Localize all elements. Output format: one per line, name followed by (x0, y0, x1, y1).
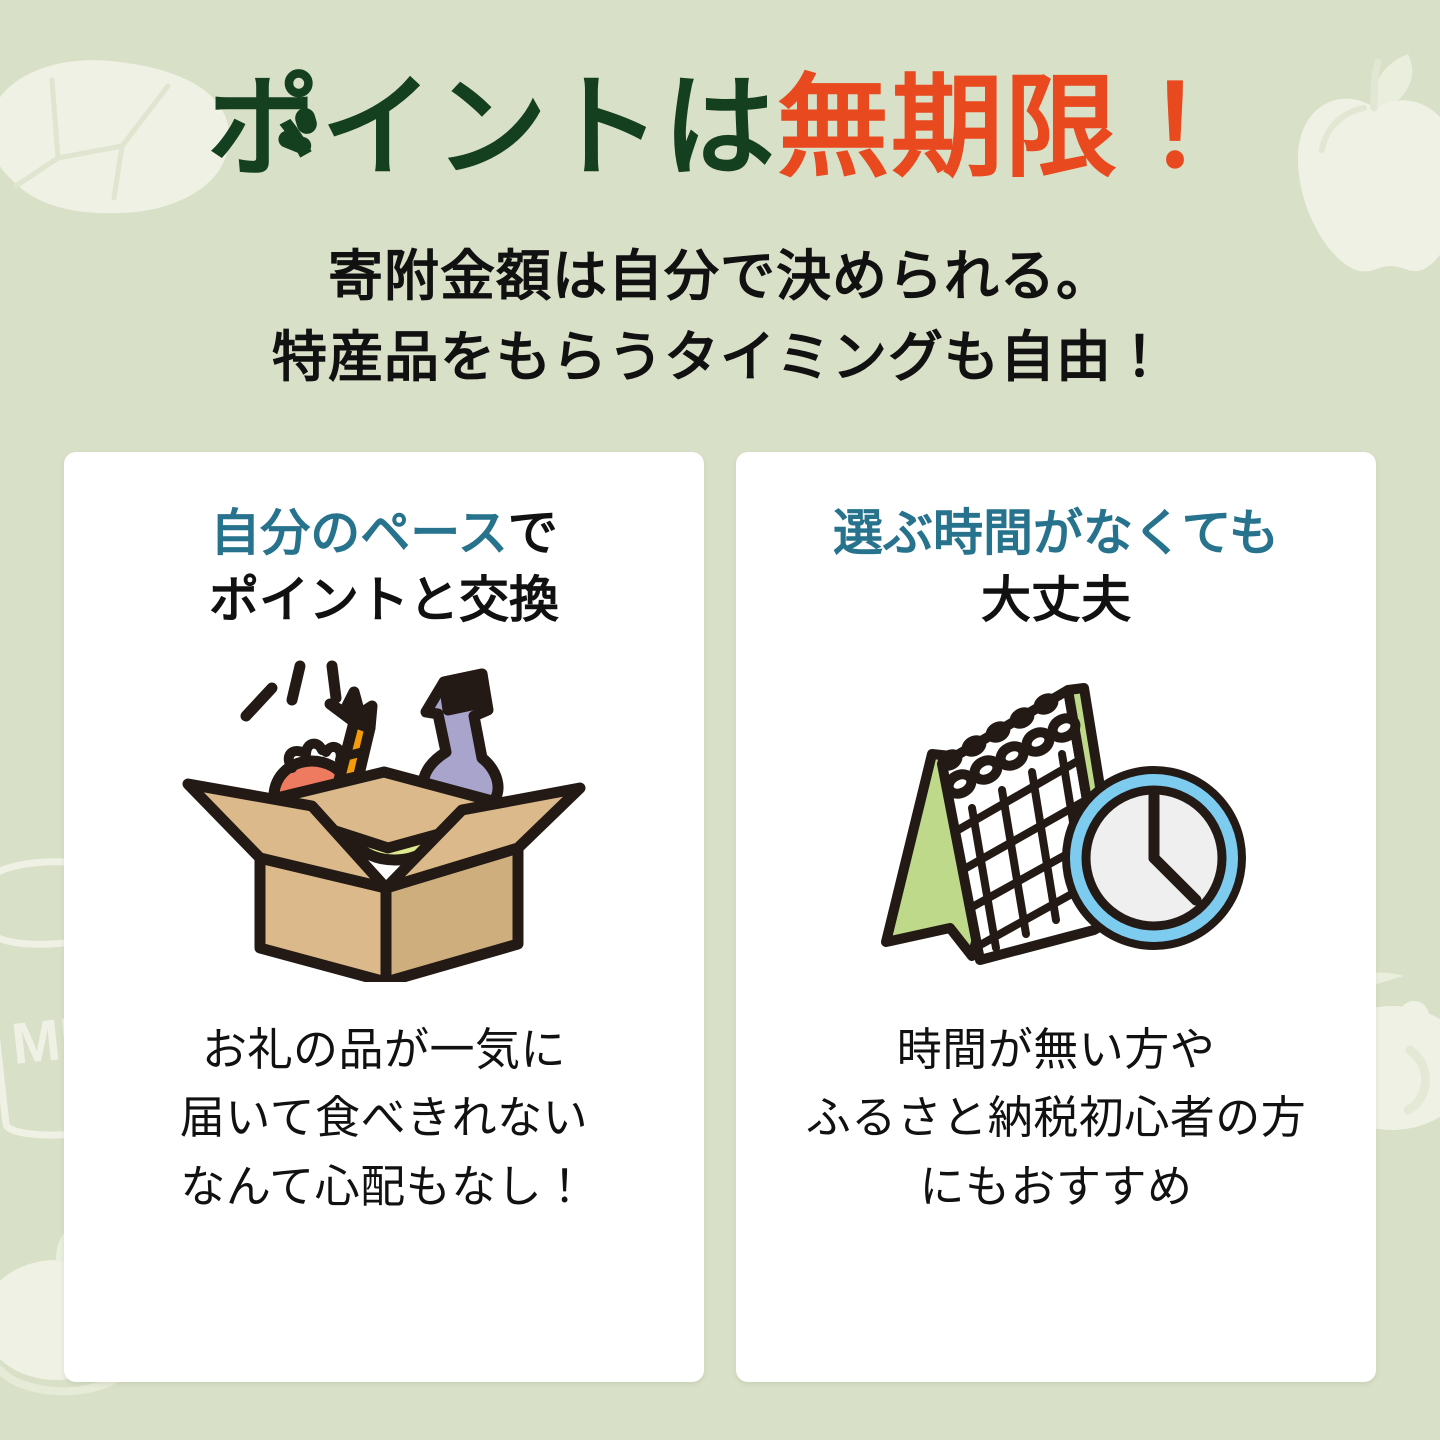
page-headline: ポイントは無期限！ (0, 62, 1440, 194)
feature-card-self-pace: 自分のペースで ポイントと交換 (64, 452, 704, 1382)
card-body-line-2: ふるさと納税初心者の方 (806, 1084, 1307, 1152)
gift-box-illustration (174, 652, 594, 982)
card-heading-no-time: 選ぶ時間がなくても 大丈夫 (833, 500, 1279, 634)
card-heading-accent: 選ぶ時間がなくても (833, 500, 1279, 567)
card-heading-self-pace: 自分のペースで ポイントと交換 (209, 500, 559, 634)
card-body-line-3: なんて心配もなし！ (180, 1153, 588, 1221)
headline-green-part: ポイントは (207, 65, 777, 190)
feature-card-list: 自分のペースで ポイントと交換 (64, 452, 1376, 1382)
subtitle-line-1: 寄附金額は自分で決められる。 (0, 236, 1440, 317)
card-heading-tail: で (508, 505, 558, 561)
card-heading-accent: 自分のペース (210, 505, 508, 561)
card-body-self-pace: お礼の品が一気に 届いて食べきれない なんて心配もなし！ (180, 1016, 588, 1221)
card-body-no-time: 時間が無い方や ふるさと納税初心者の方 にもおすすめ (806, 1016, 1307, 1221)
card-heading-line2: ポイントと交換 (209, 567, 559, 634)
promo-banner: MILK ポイントは無期限！ 寄附金額は自分で決められる。 特産品をもらうタイミ… (0, 0, 1440, 1440)
feature-card-no-time: 選ぶ時間がなくても 大丈夫 (736, 452, 1376, 1382)
calendar-clock-illustration (846, 652, 1266, 982)
calendar-clock-icon (846, 652, 1266, 982)
card-body-line-1: お礼の品が一気に (180, 1016, 588, 1084)
card-body-line-2: 届いて食べきれない (180, 1084, 588, 1152)
card-body-line-3: にもおすすめ (806, 1153, 1307, 1221)
subtitle-line-2: 特産品をもらうタイミングも自由！ (0, 317, 1440, 398)
page-subtitle: 寄附金額は自分で決められる。 特産品をもらうタイミングも自由！ (0, 236, 1440, 399)
card-heading-line2: 大丈夫 (833, 567, 1279, 634)
gift-box-icon (174, 652, 594, 982)
headline-orange-part: 無期限！ (777, 65, 1233, 190)
card-body-line-1: 時間が無い方や (806, 1016, 1307, 1084)
